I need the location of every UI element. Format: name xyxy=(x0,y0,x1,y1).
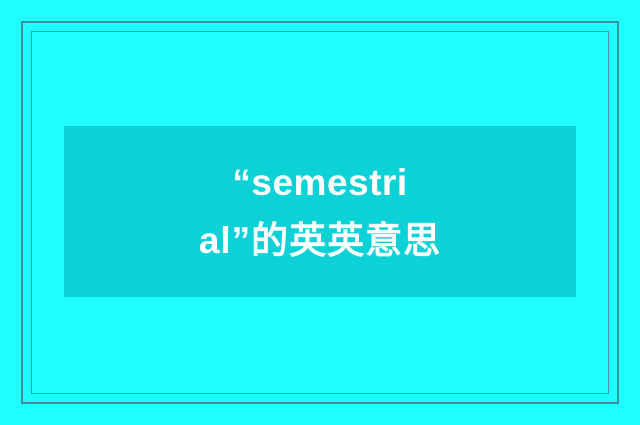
title-line-1: “semestri xyxy=(232,154,407,212)
title-line-2: al”的英英意思 xyxy=(199,212,441,270)
poster-canvas: “semestri al”的英英意思 xyxy=(0,0,640,425)
title-panel: “semestri al”的英英意思 xyxy=(64,126,576,297)
